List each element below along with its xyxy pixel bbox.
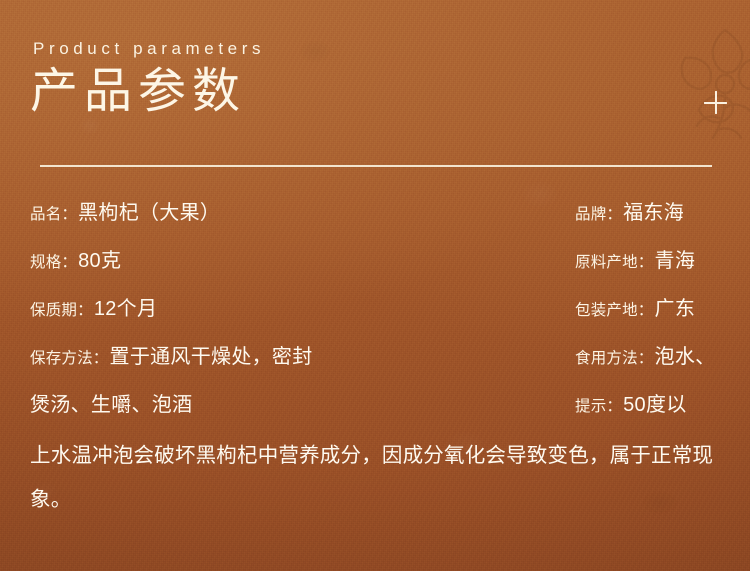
spec-label: 提示：	[575, 394, 622, 416]
tip-note-text: 上水温冲泡会破坏黑枸杞中营养成分，因成分氧化会导致变色，属于正常现象。	[30, 434, 730, 522]
spec-item-brand: 品牌： 福东海	[575, 196, 684, 225]
spec-label: 食用方法：	[575, 346, 654, 368]
spec-row: 保质期： 12个月 包装产地： 广东	[0, 292, 750, 340]
spec-row: 保存方法： 置于通风干燥处，密封 食用方法： 泡水、	[0, 340, 750, 388]
spec-label: 保存方法：	[30, 346, 109, 368]
spec-label: 包装产地：	[575, 298, 654, 320]
plus-icon[interactable]	[704, 91, 727, 114]
spec-label: 品牌：	[575, 202, 622, 224]
spec-row: 规格： 80克 原料产地： 青海	[0, 244, 750, 292]
header-divider	[40, 165, 712, 167]
spec-list: 品名： 黑枸杞（大果） 品牌： 福东海 规格： 80克 原料产地： 青海 保质期…	[0, 196, 750, 434]
spec-label: 品名：	[30, 202, 77, 224]
spec-value: 置于通风干燥处，密封	[110, 340, 313, 369]
spec-item-tip: 提示： 50度以	[575, 388, 687, 417]
spec-item-specification: 规格： 80克	[30, 244, 121, 273]
spec-item-packaging-origin: 包装产地： 广东	[575, 292, 695, 321]
spec-item-product-name: 品名： 黑枸杞（大果）	[30, 196, 220, 225]
spec-item-storage-method: 保存方法： 置于通风干燥处，密封	[30, 340, 313, 369]
storage-method-continuation: 煲汤、生嚼、泡酒	[30, 388, 192, 417]
spec-value: 黑枸杞（大果）	[78, 196, 220, 225]
spec-row: 品名： 黑枸杞（大果） 品牌： 福东海	[0, 196, 750, 244]
section-eyebrow: Product parameters	[33, 39, 265, 59]
spec-value: 80克	[78, 244, 121, 273]
spec-value: 福东海	[623, 196, 684, 225]
spec-item-shelf-life: 保质期： 12个月	[30, 292, 157, 321]
spec-label: 规格：	[30, 250, 77, 272]
spec-value: 12个月	[94, 292, 157, 321]
spec-item-consumption-method: 食用方法： 泡水、	[575, 340, 715, 369]
product-parameters-banner: Product parameters 产品参数 品名： 黑枸杞（大果） 品牌： …	[0, 0, 750, 571]
page-title: 产品参数	[30, 68, 246, 116]
spec-value: 广东	[655, 292, 696, 321]
spec-label: 原料产地：	[575, 250, 654, 272]
spec-value: 青海	[655, 244, 696, 273]
spec-item-origin: 原料产地： 青海	[575, 244, 695, 273]
spec-value: 泡水、	[655, 340, 716, 369]
spec-continuation-row: 煲汤、生嚼、泡酒 提示： 50度以	[0, 388, 750, 434]
spec-value: 50度以	[623, 388, 686, 417]
spec-label: 保质期：	[30, 298, 93, 320]
